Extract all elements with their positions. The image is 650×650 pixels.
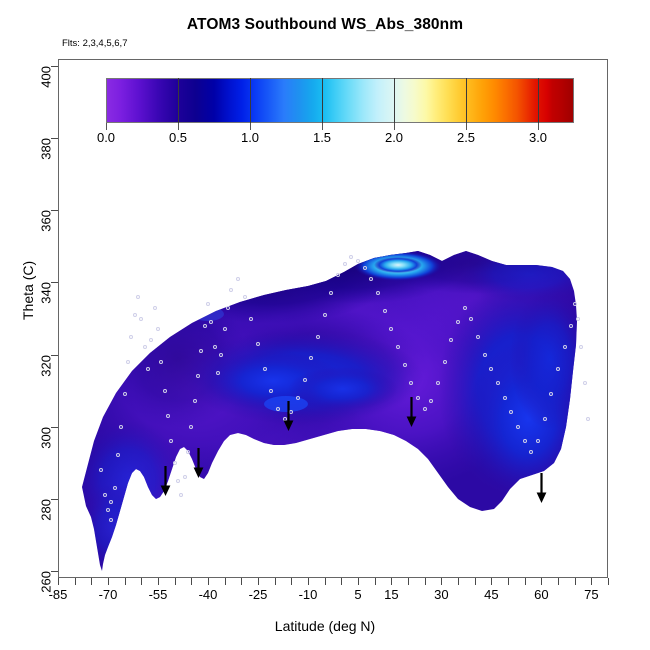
flights-annotation: Flts: 2,3,4,5,6,7 [62,38,127,49]
x-axis-tick [391,578,392,585]
x-axis-tick [141,578,142,585]
colorbar-separator [322,78,323,123]
x-axis-label: 30 [434,587,448,602]
x-axis-label: -10 [299,587,318,602]
down-arrow-icon [160,466,171,496]
x-axis-tick [158,578,159,585]
colorbar-tick [178,123,179,130]
y-axis-label: 340 [39,282,54,304]
colorbar-tick [538,123,539,130]
y-axis-label: 400 [39,66,54,88]
colorbar-label: 2.0 [385,130,403,145]
colorbar-tick [250,123,251,130]
down-arrow-icon [193,448,204,478]
y-axis-label: 280 [39,499,54,521]
x-axis-tick [91,578,92,585]
colorbar-separator [394,78,395,123]
colorbar-separator [538,78,539,123]
x-axis-label: 45 [484,587,498,602]
down-arrow-icon [406,397,417,427]
x-axis-tick [575,578,576,585]
x-axis-label: 15 [384,587,398,602]
colorbar-label: 1.0 [241,130,259,145]
x-axis-label: 75 [584,587,598,602]
x-axis-tick [541,578,542,585]
x-axis-tick [458,578,459,585]
x-axis-tick [591,578,592,585]
colorbar-label: 2.5 [457,130,475,145]
x-axis-tick [358,578,359,585]
x-axis-tick [425,578,426,585]
colorbar-tick [106,123,107,130]
x-axis-tick [408,578,409,585]
x-axis-tick [125,578,126,585]
colorbar-tick [322,123,323,130]
x-axis-tick [308,578,309,585]
x-axis-tick [108,578,109,585]
y-axis-label: 320 [39,355,54,377]
x-axis-tick [241,578,242,585]
x-axis-label: 5 [354,587,361,602]
y-axis-title: Theta (C) [20,320,79,336]
colorbar-label: 3.0 [529,130,547,145]
x-axis-tick [275,578,276,585]
colorbar-label: 0.0 [97,130,115,145]
x-axis-tick [225,578,226,585]
colorbar-separator [466,78,467,123]
descent-arrows [58,59,608,578]
x-axis: -85-70-55-40-25-1051530456075 [58,578,608,618]
x-axis-tick [558,578,559,585]
x-axis-tick [175,578,176,585]
colorbar-separator [178,78,179,123]
x-axis-tick [491,578,492,585]
x-axis-tick [475,578,476,585]
x-axis-tick [508,578,509,585]
x-axis-tick [58,578,59,585]
x-axis-tick [341,578,342,585]
x-axis-label: -40 [199,587,218,602]
colorbar-gradient [106,78,574,123]
x-axis-title: Latitude (deg N) [0,618,650,634]
colorbar-label: 0.5 [169,130,187,145]
x-axis-tick [191,578,192,585]
x-axis-tick [325,578,326,585]
x-axis-tick [375,578,376,585]
colorbar-label: 1.5 [313,130,331,145]
x-axis-label: -70 [99,587,118,602]
y-axis-label: 260 [39,571,54,593]
x-axis-tick [608,578,609,585]
chart-title: ATOM3 Southbound WS_Abs_380nm [0,16,650,34]
y-axis-label: 300 [39,427,54,449]
x-axis-tick [208,578,209,585]
x-axis-tick [75,578,76,585]
down-arrow-icon [283,401,294,431]
x-axis-tick [441,578,442,585]
colorbar-tick [394,123,395,130]
x-axis-tick [258,578,259,585]
colorbar-tick [466,123,467,130]
y-axis-label: 360 [39,210,54,232]
down-arrow-icon [536,473,547,503]
x-axis-label: -55 [149,587,168,602]
colorbar-separator [250,78,251,123]
colorbar: 0.00.51.01.52.02.53.0 [106,78,574,123]
x-axis-label: -25 [249,587,268,602]
y-axis-label: 380 [39,138,54,160]
x-axis-tick [291,578,292,585]
x-axis-tick [525,578,526,585]
chart-canvas: ATOM3 Southbound WS_Abs_380nm Flts: 2,3,… [0,0,650,650]
x-axis-label: 60 [534,587,548,602]
